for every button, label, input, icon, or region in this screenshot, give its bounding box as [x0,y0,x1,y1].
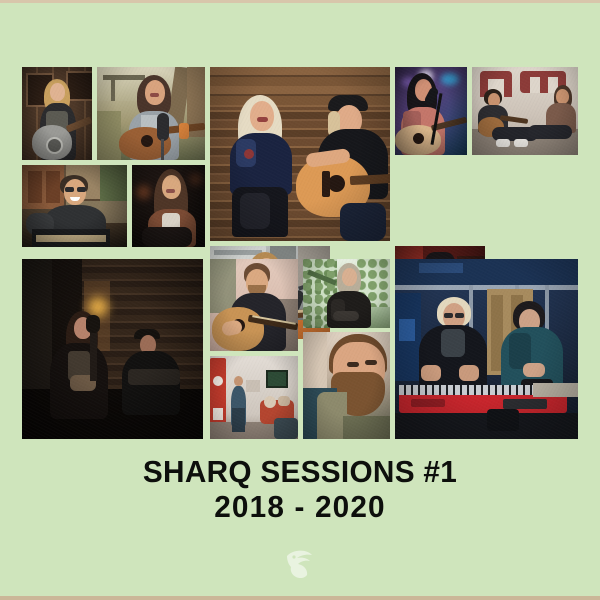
photo-duo-red-mural-room [472,67,578,155]
photo-bearded-man-closeup [303,332,390,439]
photo-man-classical-guitar [210,259,298,351]
photo-keyboard-duo-industrial [395,259,578,439]
photo-woman-acoustic-outdoors [97,67,205,160]
photo-collage [22,67,578,439]
photo-duo-dark-studio [22,259,203,439]
photo-duo-blonde-and-beret [210,67,390,241]
photo-living-room-performer [210,356,298,439]
brand-logo [0,547,600,581]
poster-caption: SHARQ SESSIONS #1 2018 - 2020 [0,455,600,524]
photo-woman-resonator-guitar [22,67,92,160]
poster: SHARQ SESSIONS #1 2018 - 2020 [0,0,600,600]
photo-man-glasses-guitar [22,165,127,247]
photo-woman-in-greenery [303,259,390,328]
photo-woman-low-light [132,165,205,247]
poster-title-line-1: SHARQ SESSIONS #1 [12,455,588,488]
photo-singer-stage-lights [395,67,467,155]
sharq-bird-logo-icon [283,547,317,581]
poster-title-line-2: 2018 - 2020 [12,490,588,523]
